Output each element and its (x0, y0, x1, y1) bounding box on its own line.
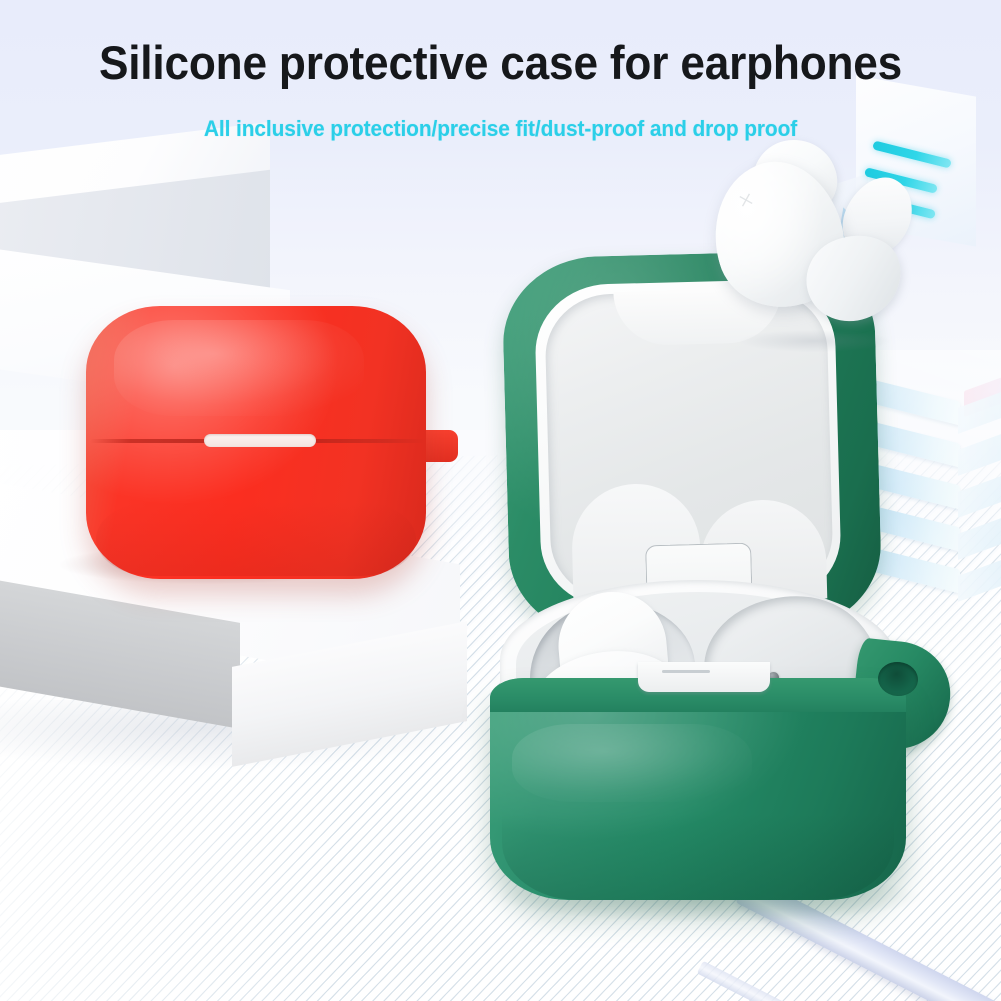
product-marketing-image: Silicone protective case for earphones A… (0, 0, 1001, 1001)
green-silicone-case (486, 254, 956, 904)
page-subtitle: All inclusive protection/precise fit/dus… (25, 116, 976, 142)
red-silicone-case (86, 306, 446, 581)
green-case-front-notch (638, 662, 770, 692)
page-title: Silicone protective case for earphones (30, 38, 971, 88)
floating-earbud (706, 140, 916, 340)
red-case-front-notch (204, 434, 316, 447)
green-case-front-notch-line (662, 670, 710, 673)
